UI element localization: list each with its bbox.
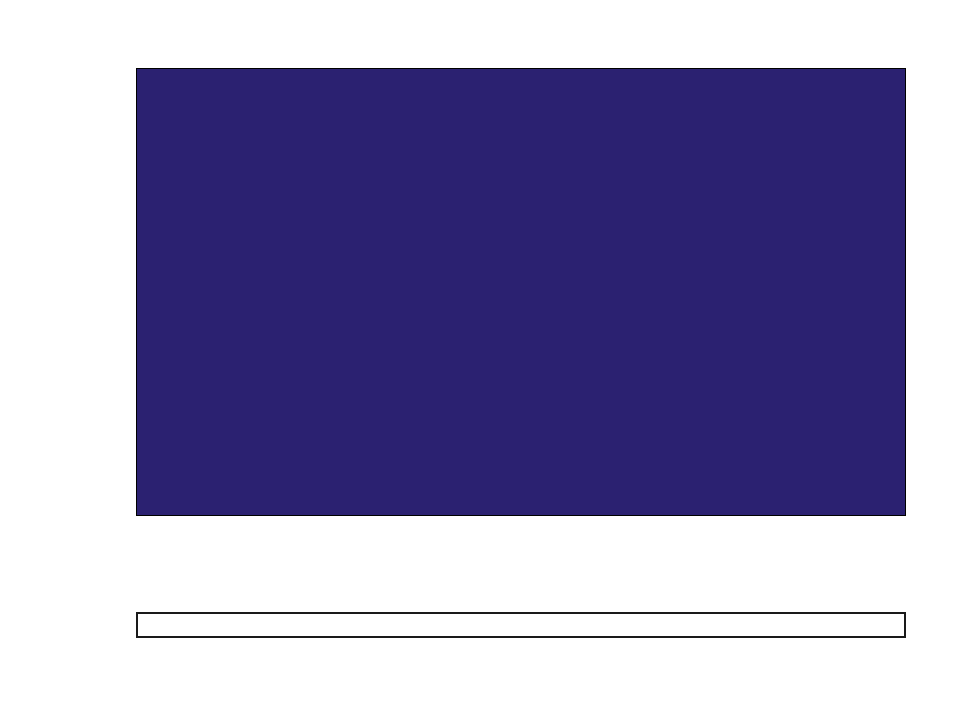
spectrogram-figure [0,0,960,720]
colorbar-gradient [138,614,904,636]
spectrogram-axes[interactable] [136,68,906,516]
spectrogram-image[interactable] [137,69,906,516]
colorbar[interactable] [136,612,906,638]
